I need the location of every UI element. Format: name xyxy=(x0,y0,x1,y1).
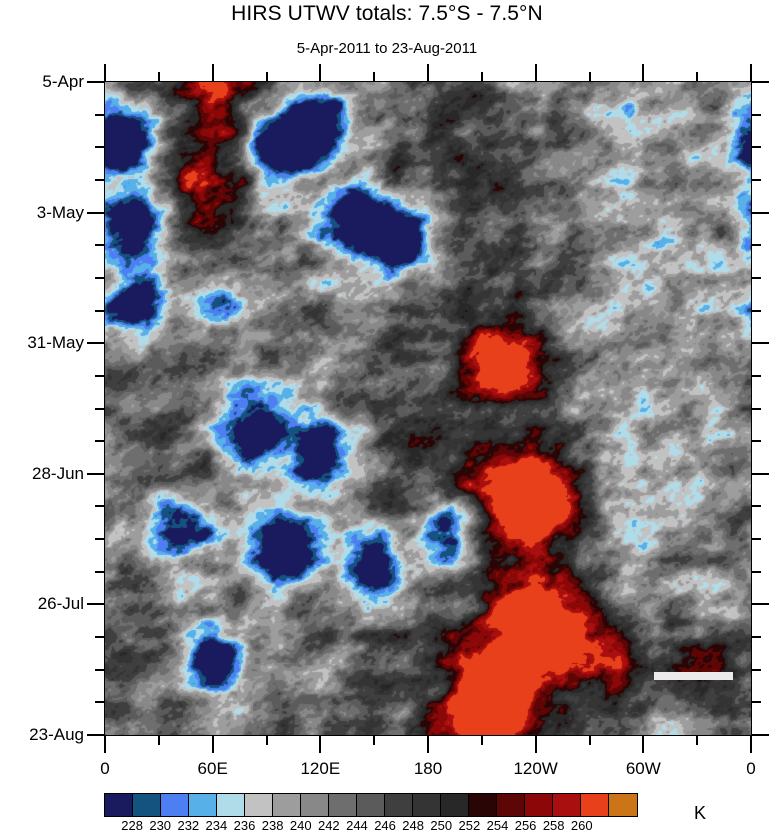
colorbar-tick-label: 252 xyxy=(459,818,481,833)
colorbar-tick-label: 246 xyxy=(374,818,396,833)
axis-tick xyxy=(373,72,375,81)
axis-tick xyxy=(95,636,104,638)
axis-tick xyxy=(589,72,591,81)
axis-tick xyxy=(752,81,769,83)
page-subtitle: 5-Apr-2011 to 23-Aug-2011 xyxy=(0,40,774,57)
axis-tick xyxy=(158,72,160,81)
colorbar-swatch xyxy=(273,794,301,816)
axis-tick xyxy=(95,146,104,148)
colorbar-tick-label: 234 xyxy=(206,818,228,833)
axis-tick xyxy=(642,64,644,81)
y-axis-tick-label: 26-Jul xyxy=(38,594,84,614)
colorbar-swatch xyxy=(385,794,413,816)
axis-tick xyxy=(589,736,591,745)
axis-tick xyxy=(158,736,160,745)
axis-tick xyxy=(95,669,104,671)
y-axis-tick-label: 3-May xyxy=(37,203,84,223)
x-axis-tick-label: 0 xyxy=(100,759,109,779)
colorbar-swatch xyxy=(497,794,525,816)
axis-tick xyxy=(373,736,375,745)
axis-tick xyxy=(752,701,761,703)
axis-tick xyxy=(95,440,104,442)
axis-tick xyxy=(104,736,106,753)
axis-tick xyxy=(752,473,769,475)
axis-tick xyxy=(752,669,761,671)
axis-tick xyxy=(266,736,268,745)
axis-tick xyxy=(752,277,761,279)
colorbar-swatch xyxy=(413,794,441,816)
colorbar-swatch xyxy=(245,794,273,816)
axis-tick xyxy=(752,342,769,344)
axis-tick xyxy=(95,179,104,181)
axis-tick xyxy=(752,440,761,442)
axis-tick xyxy=(750,64,752,81)
axis-tick xyxy=(266,72,268,81)
colorbar-swatch xyxy=(553,794,581,816)
colorbar-tick-label: 238 xyxy=(262,818,284,833)
axis-tick xyxy=(95,310,104,312)
axis-tick xyxy=(696,736,698,745)
axis-tick xyxy=(95,114,104,116)
axis-tick xyxy=(752,505,761,507)
axis-tick xyxy=(752,408,761,410)
axis-tick xyxy=(95,277,104,279)
axis-tick xyxy=(752,114,761,116)
colorbar-tick-label: 236 xyxy=(234,818,256,833)
axis-tick xyxy=(319,64,321,81)
y-axis-tick-label: 31-May xyxy=(27,333,84,353)
colorbar-tick-label: 242 xyxy=(318,818,340,833)
colorbar-tick-labels: 2282302322342362382402422442462482502522… xyxy=(104,818,638,836)
page-title: HIRS UTWV totals: 7.5°S - 7.5°N xyxy=(0,2,774,26)
x-axis-tick-label: 120E xyxy=(300,759,340,779)
colorbar-tick-label: 256 xyxy=(515,818,537,833)
colorbar-swatch xyxy=(217,794,245,816)
colorbar-tick-label: 230 xyxy=(149,818,171,833)
axis-tick xyxy=(481,736,483,745)
heatmap-field xyxy=(105,82,751,735)
x-axis-tick-label: 120W xyxy=(513,759,557,779)
axis-tick xyxy=(752,603,769,605)
colorbar-swatch xyxy=(441,794,469,816)
colorbar-swatch xyxy=(105,794,133,816)
colorbar-swatch xyxy=(581,794,609,816)
axis-tick xyxy=(95,244,104,246)
colorbar-swatch xyxy=(357,794,385,816)
axis-tick xyxy=(752,734,769,736)
colorbar-tick-label: 254 xyxy=(487,818,509,833)
axis-tick xyxy=(752,310,761,312)
colorbar-tick-label: 260 xyxy=(571,818,593,833)
axis-tick xyxy=(319,736,321,753)
axis-tick xyxy=(752,179,761,181)
axis-tick xyxy=(95,538,104,540)
axis-tick xyxy=(642,736,644,753)
axis-tick xyxy=(752,244,761,246)
colorbar-tick-label: 228 xyxy=(121,818,143,833)
y-axis-tick-label: 23-Aug xyxy=(29,725,84,745)
colorbar-tick-label: 248 xyxy=(402,818,424,833)
axis-tick xyxy=(752,636,761,638)
axis-tick xyxy=(535,64,537,81)
x-axis-tick-label: 60W xyxy=(626,759,661,779)
axis-tick xyxy=(696,72,698,81)
colorbar-swatch xyxy=(609,794,637,816)
colorbar-tick-label: 258 xyxy=(543,818,565,833)
y-axis-labels: 5-Apr3-May31-May28-Jun26-Jul23-Aug xyxy=(0,0,92,834)
axis-tick xyxy=(752,146,761,148)
axis-tick xyxy=(750,736,752,753)
colorbar-units-label: K xyxy=(694,803,706,824)
axis-tick xyxy=(752,375,761,377)
colorbar-tick-label: 240 xyxy=(290,818,312,833)
y-axis-tick-label: 28-Jun xyxy=(32,464,84,484)
colorbar-tick-label: 244 xyxy=(346,818,368,833)
colorbar-swatch xyxy=(301,794,329,816)
axis-tick xyxy=(481,72,483,81)
colorbar-swatch xyxy=(525,794,553,816)
colorbar-swatch xyxy=(133,794,161,816)
y-axis-tick-label: 5-Apr xyxy=(42,72,84,92)
colorbar-swatch xyxy=(161,794,189,816)
axis-tick xyxy=(752,212,769,214)
axis-tick xyxy=(212,736,214,753)
axis-tick xyxy=(95,505,104,507)
x-axis-tick-label: 60E xyxy=(198,759,228,779)
hovmoller-plot xyxy=(104,81,752,736)
colorbar-swatch xyxy=(469,794,497,816)
axis-tick xyxy=(535,736,537,753)
axis-tick xyxy=(95,408,104,410)
axis-tick xyxy=(752,571,761,573)
axis-tick xyxy=(212,64,214,81)
axis-tick xyxy=(104,64,106,81)
axis-tick xyxy=(95,375,104,377)
axis-tick xyxy=(95,701,104,703)
axis-tick xyxy=(95,571,104,573)
colorbar-tick-label: 250 xyxy=(430,818,452,833)
colorbar xyxy=(104,793,638,817)
axis-tick xyxy=(752,538,761,540)
colorbar-swatch xyxy=(189,794,217,816)
data-gap-bar xyxy=(654,672,733,680)
colorbar-swatch xyxy=(329,794,357,816)
axis-tick xyxy=(427,64,429,81)
colorbar-tick-label: 232 xyxy=(177,818,199,833)
x-axis-tick-label: 180 xyxy=(414,759,442,779)
axis-tick xyxy=(427,736,429,753)
x-axis-tick-label: 0 xyxy=(746,759,755,779)
